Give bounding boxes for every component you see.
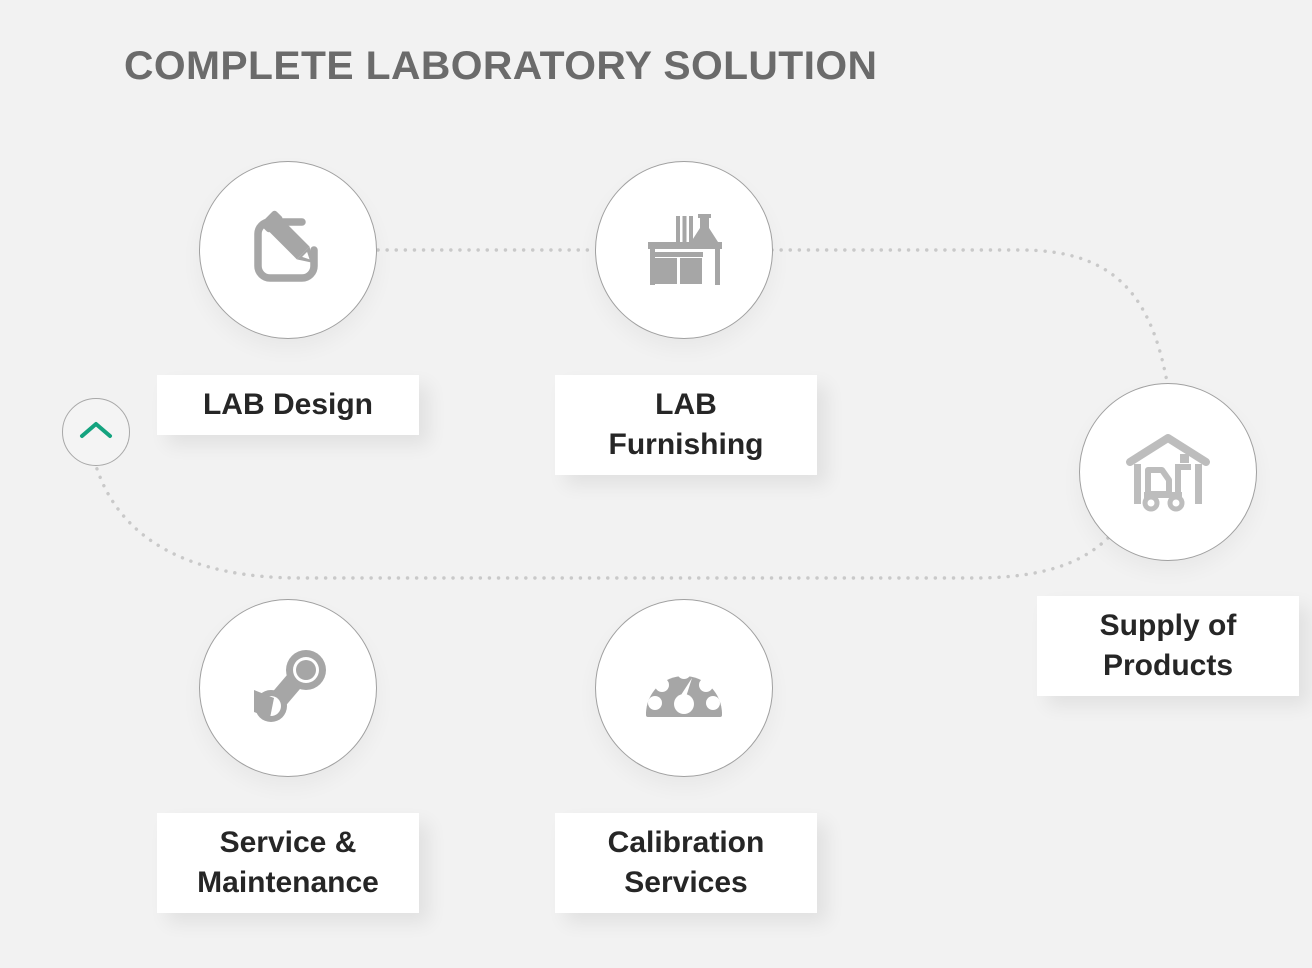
gauge-icon	[636, 640, 732, 736]
label-line: LAB	[561, 385, 811, 425]
diagram-canvas: COMPLETE LABORATORY SOLUTION	[0, 0, 1312, 968]
label-line: Calibration	[561, 823, 811, 863]
warehouse-forklift-icon	[1120, 424, 1216, 520]
label-line: Supply of	[1043, 606, 1293, 646]
service-maintenance-icon-circle[interactable]	[199, 599, 377, 777]
label-line: Service &	[163, 823, 413, 863]
label-line: Maintenance	[163, 863, 413, 903]
lab-design-label: LAB Design	[157, 375, 419, 435]
service-maintenance-label: Service & Maintenance	[157, 813, 419, 913]
supply-of-products-label: Supply of Products	[1037, 596, 1299, 696]
label-line: Furnishing	[561, 425, 811, 465]
calibration-services-label: Calibration Services	[555, 813, 817, 913]
supply-of-products-icon-circle[interactable]	[1079, 383, 1257, 561]
lab-bench-icon	[636, 202, 732, 298]
lab-design-icon-circle[interactable]	[199, 161, 377, 339]
lab-furnishing-label: LAB Furnishing	[555, 375, 817, 475]
page-title: COMPLETE LABORATORY SOLUTION	[124, 44, 877, 89]
lab-furnishing-icon-circle[interactable]	[595, 161, 773, 339]
connector-furnishing-to-supply	[772, 250, 1167, 382]
chevron-up-icon	[78, 419, 114, 446]
label-line: Services	[561, 863, 811, 903]
connector-supply-to-service	[96, 466, 1108, 578]
wrench-icon	[240, 640, 336, 736]
label-line: LAB Design	[163, 385, 413, 425]
label-line: Products	[1043, 646, 1293, 686]
scroll-up-button[interactable]	[62, 398, 130, 466]
calibration-services-icon-circle[interactable]	[595, 599, 773, 777]
pencil-edit-icon	[240, 202, 336, 298]
